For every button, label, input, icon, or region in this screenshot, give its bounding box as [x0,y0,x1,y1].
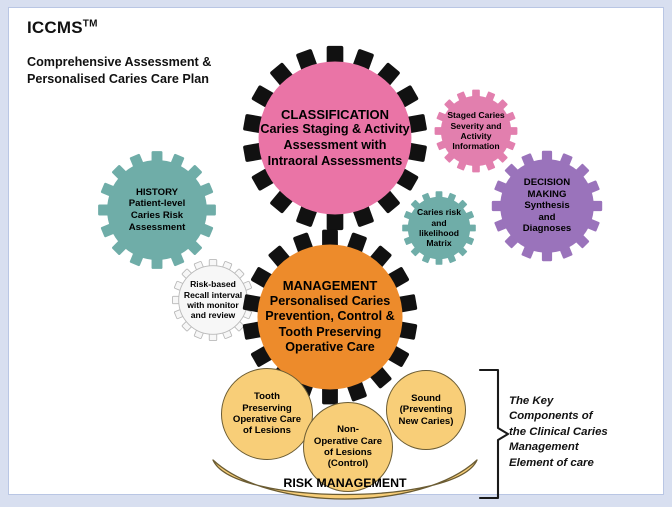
staged-caries-line-2: Activity [460,131,491,141]
recall-line-2: with monitor [187,300,239,310]
staged-caries-line-1: Severity and [450,121,501,131]
recall-line-1: Recall interval [184,290,242,300]
sound-line-2: New Caries) [399,416,454,427]
matrix-line-3: Matrix [426,238,451,248]
classification-line-2: Assessment with [284,138,387,154]
key-note-line-2: the Clinical Caries [509,426,608,438]
tooth-preserving-line-3: of Lesions [233,425,301,436]
matrix-line-1: and [431,218,446,228]
recall-line-0: Risk-based [190,279,236,289]
decision-line-0: DECISION [524,177,570,189]
tooth-preserving-label: Tooth Preserving Operative Care of Lesio… [233,391,301,437]
brand-name: ICCMS [27,18,83,37]
tooth-preserving-circle: Tooth Preserving Operative Care of Lesio… [221,368,313,460]
non-operative-line-0: Non- [314,424,382,435]
staged-caries-line-0: Staged Caries [447,110,504,120]
diagram-canvas: ICCMSTM Comprehensive Assessment & Perso… [8,7,664,495]
risk-management-label: RISK MANAGEMENT [209,476,481,490]
tooth-preserving-line-0: Tooth [233,391,301,402]
non-operative-line-1: Operative Care [314,436,382,447]
key-components-brace [464,368,510,505]
classification-line-3: Intraoral Assessments [268,154,403,170]
history-line-1: Patient-level [129,198,186,210]
history-line-3: Assessment [129,222,186,234]
decision-line-3: and [538,212,555,224]
sound-line-1: (Preventing [399,404,454,415]
classification-line-0: CLASSIFICATION [281,107,389,123]
management-line-0: MANAGEMENT [283,278,378,294]
decision-making-gear: DECISION MAKING Synthesis and Diagnoses [487,146,607,266]
key-note-line-0: The Key [509,395,553,407]
history-line-2: Caries Risk [131,210,183,222]
risk-management-banner: RISK MANAGEMENT [209,454,481,502]
decision-line-1: MAKING [528,189,567,201]
matrix-line-2: likelihood [419,228,459,238]
brace-shape [464,368,510,500]
key-components-note: The Key Components of the Clinical Carie… [509,394,654,471]
management-line-2: Prevention, Control & [265,309,394,325]
sound-label: Sound (Preventing New Caries) [399,393,454,427]
history-gear: HISTORY Patient-level Caries Risk Assess… [93,146,221,274]
decision-making-gear-label: DECISION MAKING Synthesis and Diagnoses [487,146,607,266]
sound-circle: Sound (Preventing New Caries) [386,370,466,450]
tooth-preserving-line-1: Preserving [233,403,301,414]
management-line-3: Tooth Preserving [279,325,382,341]
history-line-0: HISTORY [136,187,178,199]
recall-line-3: and review [191,310,235,320]
key-note-line-1: Components of [509,410,593,422]
decision-line-4: Diagnoses [523,223,572,235]
decision-line-2: Synthesis [524,200,569,212]
management-line-1: Personalised Caries [270,294,390,310]
matrix-line-0: Caries risk [417,207,461,217]
trademark-mark: TM [83,18,98,29]
sound-line-0: Sound [399,393,454,404]
tooth-preserving-line-2: Operative Care [233,414,301,425]
classification-line-1: Caries Staging & Activity [260,122,409,138]
management-line-4: Operative Care [285,340,375,356]
history-gear-label: HISTORY Patient-level Caries Risk Assess… [93,146,221,274]
key-note-line-4: Element of care [509,457,594,469]
key-note-line-3: Management [509,441,579,453]
page-title: ICCMSTM [27,18,98,38]
